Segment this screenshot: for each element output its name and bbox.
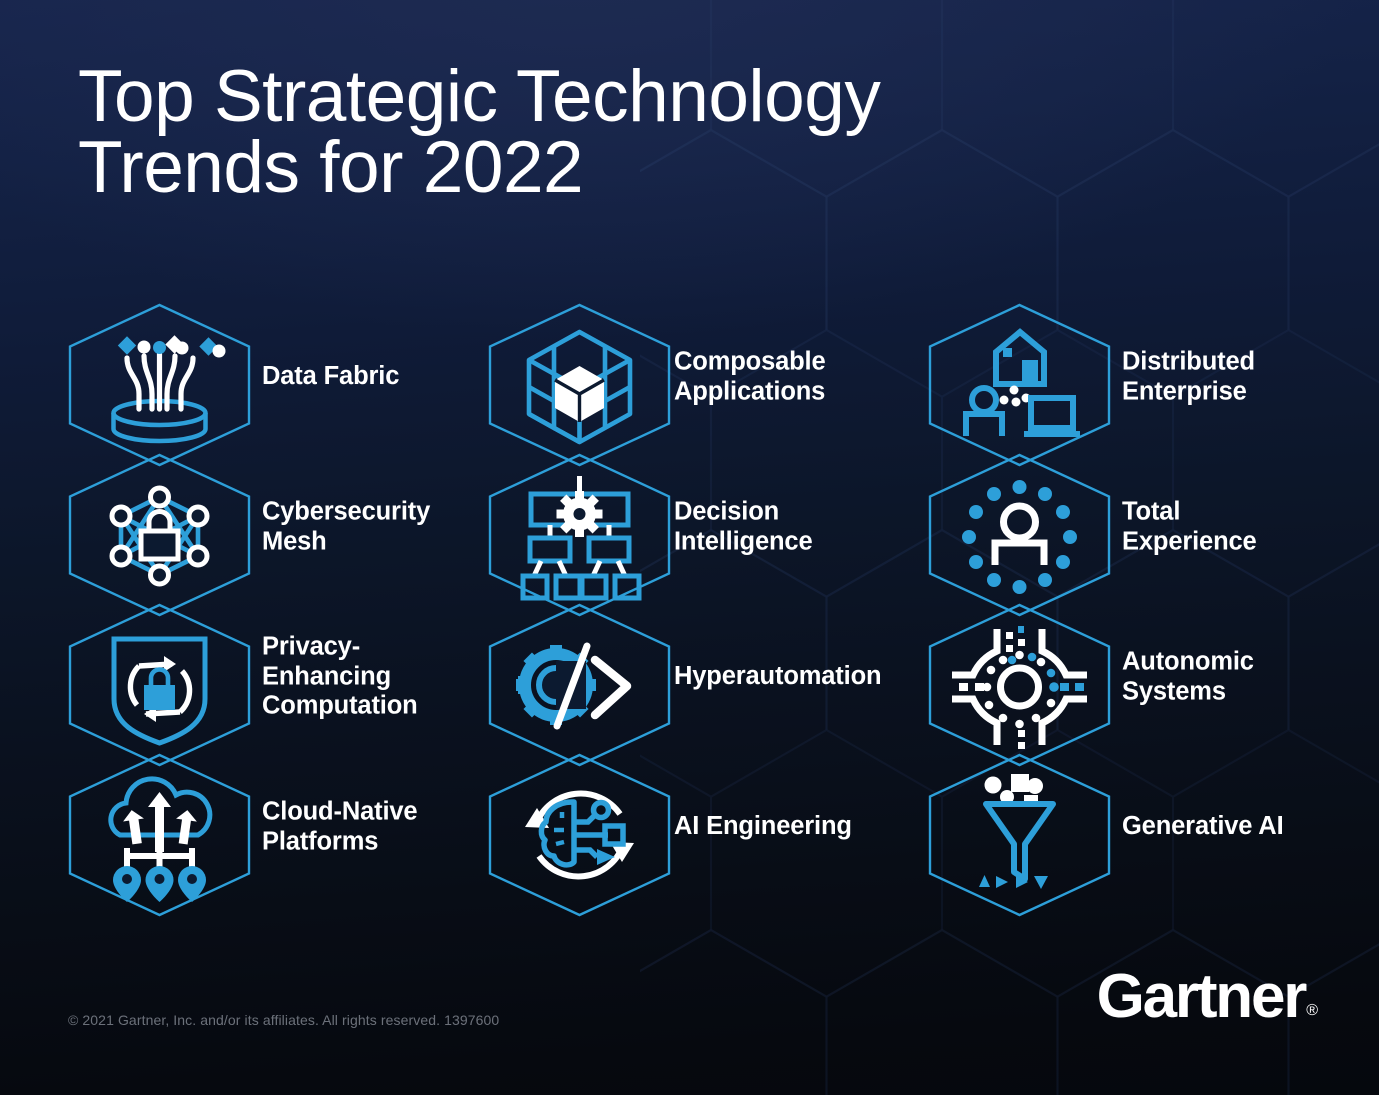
trend-column-3: Distributed Enterprise [924, 302, 1354, 902]
registered-trademark-mark: ® [1306, 1002, 1318, 1019]
distributed-enterprise-hexagon[interactable] [924, 302, 1115, 468]
trend-label: AI Engineering [674, 812, 944, 842]
trend-item-cybersecurity-mesh[interactable]: Cybersecurity Mesh [64, 452, 494, 602]
total-experience-icon [962, 480, 1077, 594]
hyperautomation-icon [516, 645, 627, 726]
autonomic-systems-icon [952, 626, 1087, 749]
trend-item-privacy-enhancing-computation[interactable]: Privacy- Enhancing Computation [64, 602, 494, 752]
cybersecurity-mesh-icon [112, 488, 207, 584]
privacy-enhancing-computation-icon [114, 639, 205, 743]
trend-item-data-fabric[interactable]: Data Fabric [64, 302, 494, 452]
trend-label: Decision Intelligence [674, 497, 944, 556]
distributed-enterprise-icon [966, 332, 1080, 436]
autonomic-systems-hexagon[interactable] [924, 602, 1115, 768]
trend-label: Data Fabric [262, 362, 522, 392]
generative-ai-hexagon[interactable] [924, 752, 1115, 918]
trend-label: Autonomic Systems [1122, 647, 1379, 706]
trend-label: Cybersecurity Mesh [262, 497, 522, 556]
trend-item-hyperautomation[interactable]: Hyperautomation [484, 602, 914, 752]
trend-label: Total Experience [1122, 497, 1379, 556]
trend-label: Composable Applications [674, 347, 944, 406]
poster-background: Top Strategic Technology Trends for 2022 [0, 0, 1379, 1095]
decision-intelligence-hexagon[interactable] [484, 452, 675, 618]
hyperautomation-hexagon[interactable] [484, 602, 675, 768]
trend-label: Hyperautomation [674, 662, 944, 692]
total-experience-hexagon[interactable] [924, 452, 1115, 618]
trend-item-decision-intelligence[interactable]: Decision Intelligence [484, 452, 914, 602]
trend-column-2: Composable Applications [484, 302, 914, 902]
trend-item-autonomic-systems[interactable]: Autonomic Systems [924, 602, 1354, 752]
trend-label: Cloud-Native Platforms [262, 797, 522, 856]
ai-engineering-icon [525, 794, 634, 877]
composable-applications-hexagon[interactable] [484, 302, 675, 468]
generative-ai-icon [979, 774, 1053, 889]
cybersecurity-mesh-hexagon[interactable] [64, 452, 255, 618]
page-title: Top Strategic Technology Trends for 2022 [78, 62, 1028, 204]
ai-engineering-hexagon[interactable] [484, 752, 675, 918]
cloud-native-platforms-icon [111, 779, 210, 902]
trend-item-ai-engineering[interactable]: AI Engineering [484, 752, 914, 902]
trend-item-composable-applications[interactable]: Composable Applications [484, 302, 914, 452]
trend-label: Privacy- Enhancing Computation [262, 633, 522, 722]
gartner-logo-text: Gartner [1097, 962, 1306, 1031]
privacy-enhancing-computation-hexagon[interactable] [64, 602, 255, 768]
data-fabric-icon [114, 335, 226, 441]
trend-item-distributed-enterprise[interactable]: Distributed Enterprise [924, 302, 1354, 452]
decision-intelligence-icon [523, 476, 639, 598]
trend-item-generative-ai[interactable]: Generative AI [924, 752, 1354, 902]
trend-column-1: Data Fabric [64, 302, 494, 902]
copyright-notice: © 2021 Gartner, Inc. and/or its affiliat… [68, 1012, 499, 1028]
data-fabric-hexagon[interactable] [64, 302, 255, 468]
cloud-native-platforms-hexagon[interactable] [64, 752, 255, 918]
trend-label: Generative AI [1122, 812, 1379, 842]
gartner-logo: Gartner® [1097, 966, 1317, 1028]
trend-item-total-experience[interactable]: Total Experience [924, 452, 1354, 602]
trend-label: Distributed Enterprise [1122, 347, 1379, 406]
trend-item-cloud-native-platforms[interactable]: Cloud-Native Platforms [64, 752, 494, 902]
